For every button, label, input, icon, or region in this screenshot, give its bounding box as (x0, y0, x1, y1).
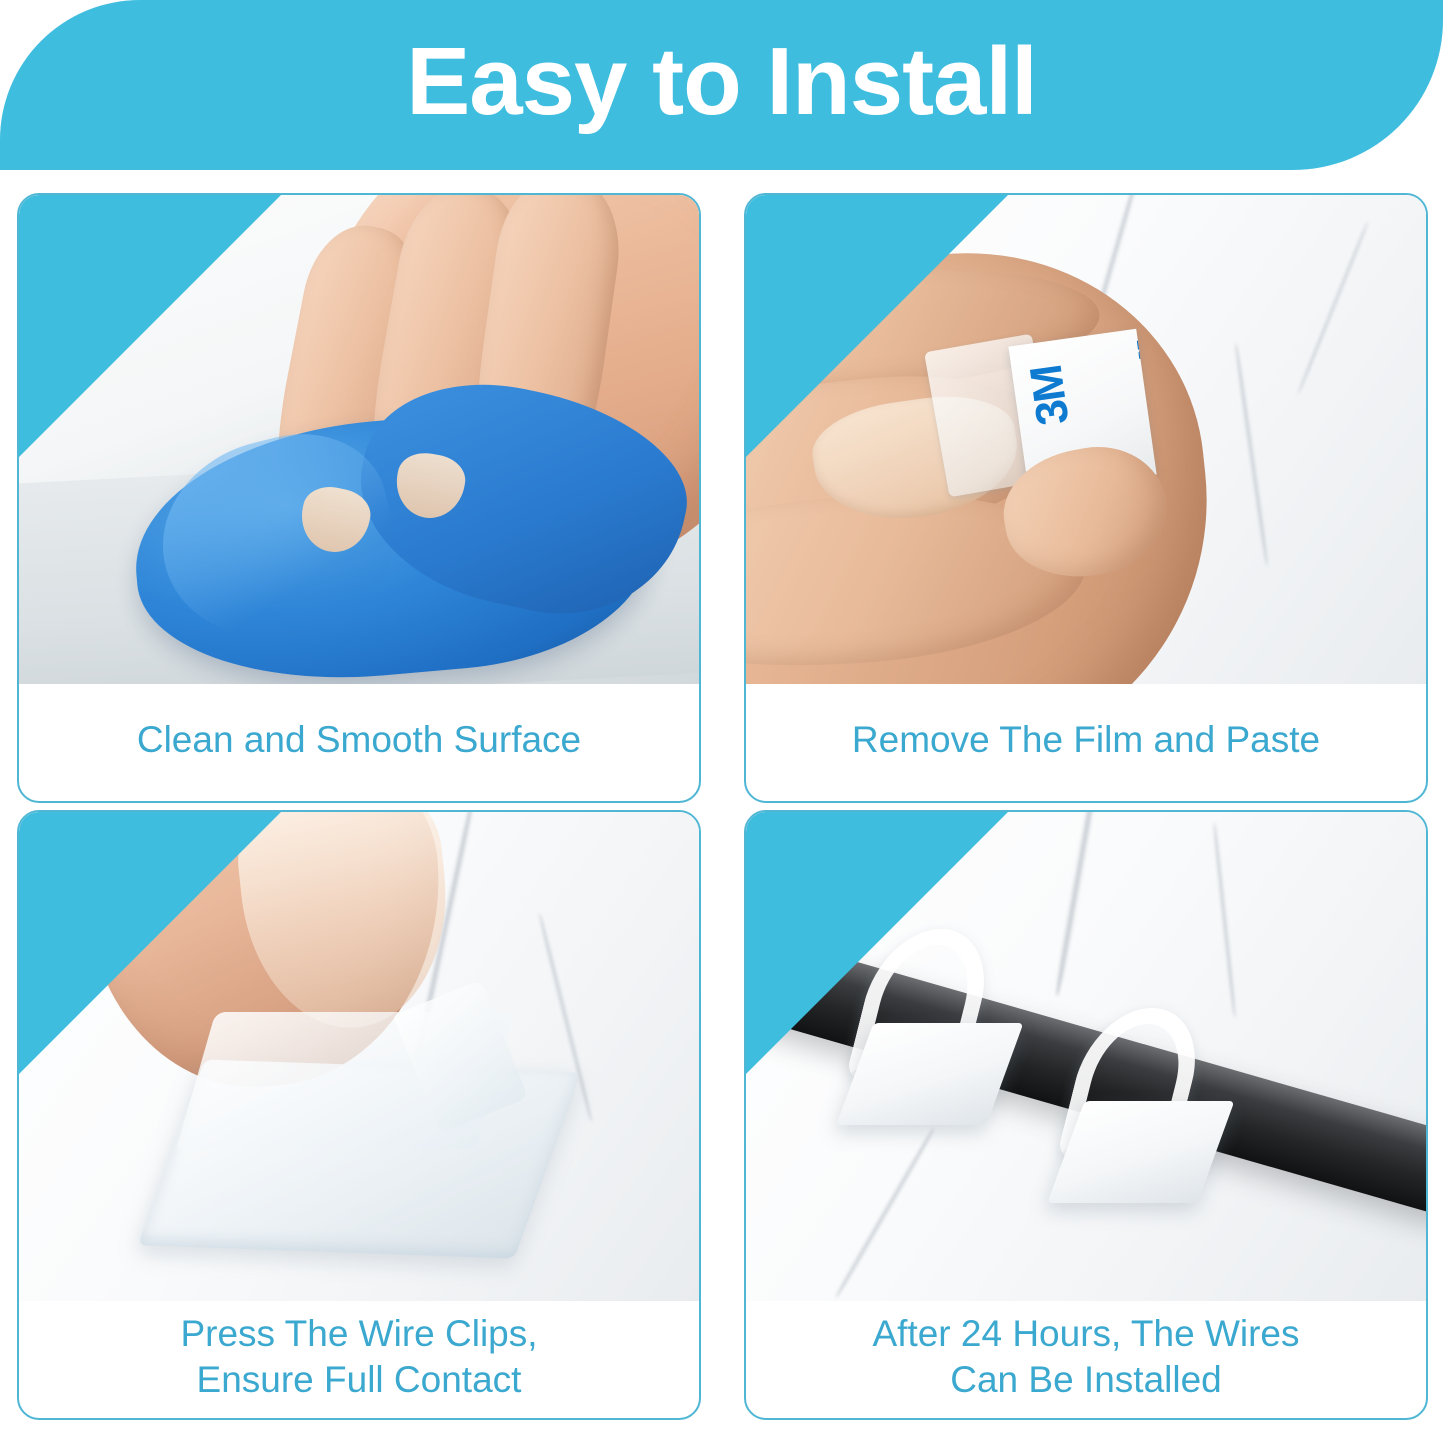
step-caption-container-03: Press The Wire Clips, Ensure Full Contac… (19, 1301, 699, 1418)
step-number-03: 03 (45, 824, 145, 919)
step-number-04: 04 (772, 824, 872, 919)
step-card-02: 3M PT 02 Remove The Film and Paste (744, 193, 1428, 803)
page-title: Easy to Install (406, 34, 1037, 136)
step-caption-container-04: After 24 Hours, The Wires Can Be Install… (746, 1301, 1426, 1418)
wire-clip-right (1066, 1008, 1216, 1204)
step-number-01: 01 (45, 207, 145, 302)
wire-clip-left (855, 929, 1005, 1125)
infographic-page: Easy to Install 01 Clean and Smoot (0, 0, 1445, 1431)
step-card-01: 01 Clean and Smooth Surface (17, 193, 701, 803)
header-banner: Easy to Install (0, 0, 1443, 170)
step-photo-03: 03 (19, 812, 699, 1301)
step-caption-02: Remove The Film and Paste (852, 717, 1320, 762)
3m-brand-text: 3M (1020, 363, 1080, 428)
step-photo-01: 01 (19, 195, 699, 684)
step-caption-04: After 24 Hours, The Wires Can Be Install… (872, 1311, 1299, 1401)
step-photo-04: 04 (746, 812, 1426, 1301)
step-caption-container-02: Remove The Film and Paste (746, 684, 1426, 801)
step-number-02: 02 (772, 207, 872, 302)
step-caption-container-01: Clean and Smooth Surface (19, 684, 699, 801)
step-caption-03: Press The Wire Clips, Ensure Full Contac… (180, 1311, 537, 1401)
step-card-03: 03 Press The Wire Clips, Ensure Full Con… (17, 810, 701, 1420)
steps-grid: 01 Clean and Smooth Surface 3M (17, 193, 1428, 1420)
step-card-04: 04 After 24 Hours, The Wires Can Be Inst… (744, 810, 1428, 1420)
step-photo-02: 3M PT 02 (746, 195, 1426, 684)
step-caption-01: Clean and Smooth Surface (137, 717, 581, 762)
